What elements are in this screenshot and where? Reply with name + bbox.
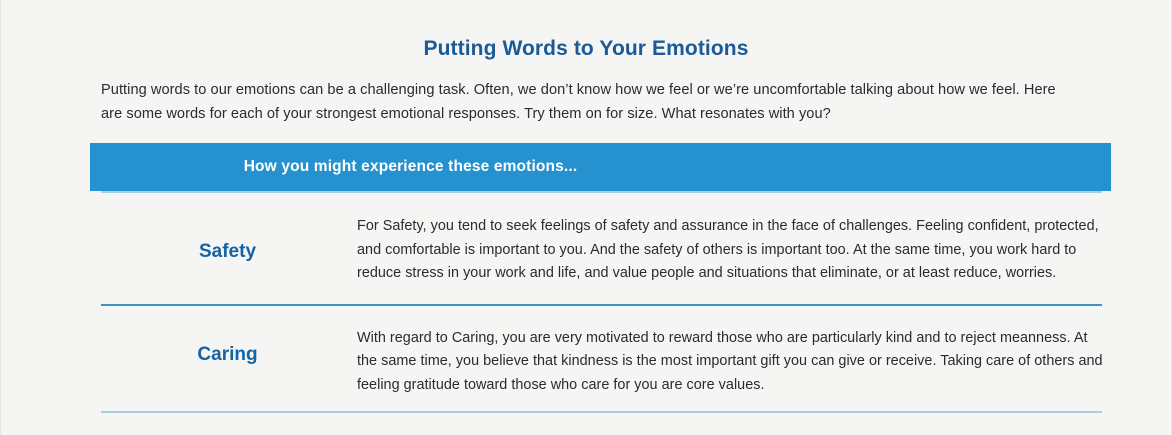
page-title: Putting Words to Your Emotions xyxy=(1,0,1171,60)
emotions-table: How you might experience these emotions.… xyxy=(1,143,1171,413)
table-header-bar: How you might experience these emotions.… xyxy=(90,143,1111,191)
row-description-caring: With regard to Caring, you are very moti… xyxy=(357,327,1111,397)
row-term-caring: Caring xyxy=(90,327,357,366)
table-row: Caring With regard to Caring, you are ve… xyxy=(90,306,1111,411)
row-description-safety: For Safety, you tend to seek feelings of… xyxy=(357,215,1111,285)
divider-bottom xyxy=(101,411,1102,413)
intro-paragraph: Putting words to our emotions can be a c… xyxy=(1,60,1171,126)
document-page: Putting Words to Your Emotions Putting w… xyxy=(0,0,1172,435)
table-header-label: How you might experience these emotions.… xyxy=(244,158,578,176)
row-term-safety: Safety xyxy=(90,215,357,263)
table-row: Safety For Safety, you tend to seek feel… xyxy=(90,193,1111,303)
